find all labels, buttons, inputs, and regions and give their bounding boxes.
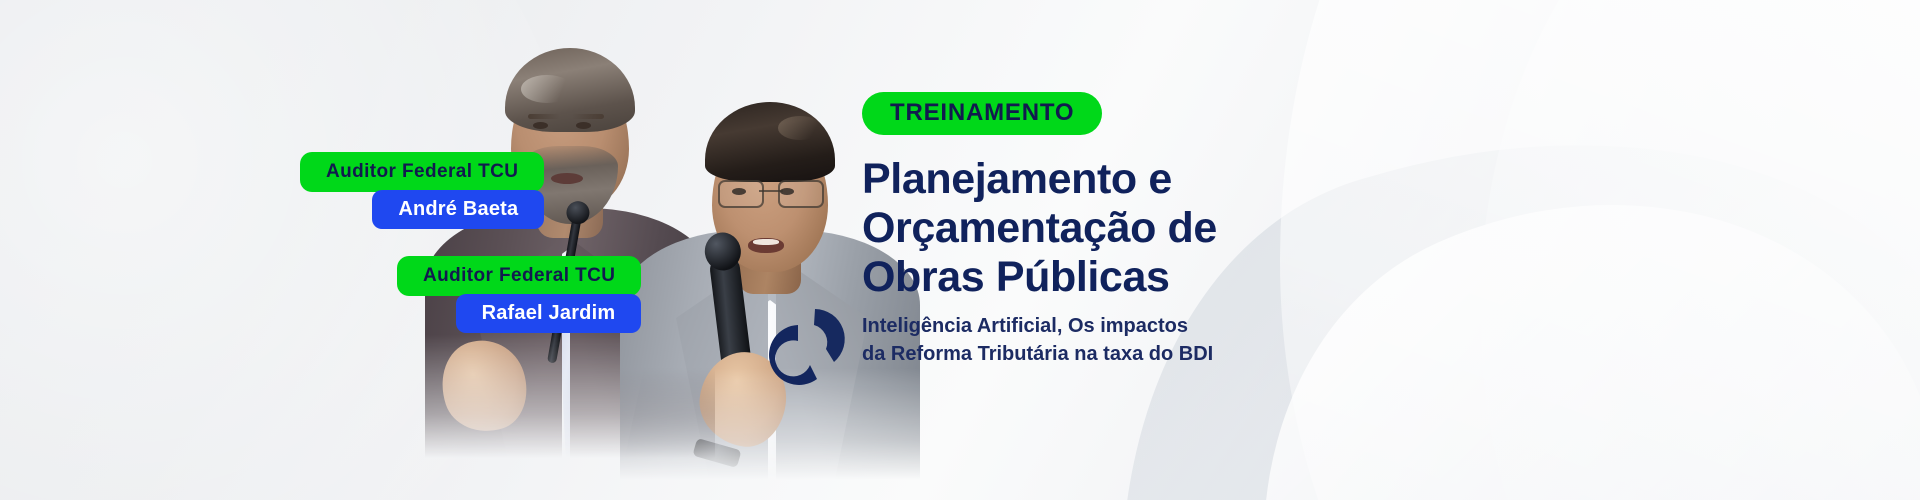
page-subtitle: Inteligência Artificial, Os impactos da … (862, 312, 1862, 369)
training-tag-badge: TREINAMENTO (862, 92, 1102, 135)
speaker-name-row: Rafael Jardim (441, 296, 641, 333)
subtitle-line-2: da Reforma Tributária na taxa do BDI (862, 340, 1862, 368)
title-line-1: Planejamento e (862, 155, 1292, 204)
subtitle-line-1: Inteligência Artificial, Os impactos (862, 312, 1862, 340)
speaker-role-pill: Auditor Federal TCU (300, 152, 544, 192)
speaker-badge-rafael-jardim: Auditor Federal TCU Rafael Jardim (397, 256, 641, 333)
speaker-name-pill: Rafael Jardim (456, 294, 642, 333)
training-promo-banner: Auditor Federal TCU André Baeta Auditor … (0, 0, 1920, 500)
title-line-2: Orçamentação de (862, 204, 1292, 253)
speaker-role-row: Auditor Federal TCU (397, 256, 641, 296)
broken-circle-logo-icon (760, 303, 852, 393)
speaker-name-pill: André Baeta (372, 190, 544, 229)
speaker-role-pill: Auditor Federal TCU (397, 256, 641, 296)
banner-text-column: TREINAMENTO Planejamento e Orçamentação … (862, 0, 1862, 500)
page-title: Planejamento e Orçamentação de Obras Púb… (862, 155, 1292, 302)
speaker-role-row: Auditor Federal TCU (300, 152, 544, 192)
speaker-badge-andre-baeta: Auditor Federal TCU André Baeta (300, 152, 544, 229)
speaker-name-row: André Baeta (346, 192, 544, 229)
title-line-3: Obras Públicas (862, 253, 1292, 302)
speaker-photos (0, 0, 900, 500)
